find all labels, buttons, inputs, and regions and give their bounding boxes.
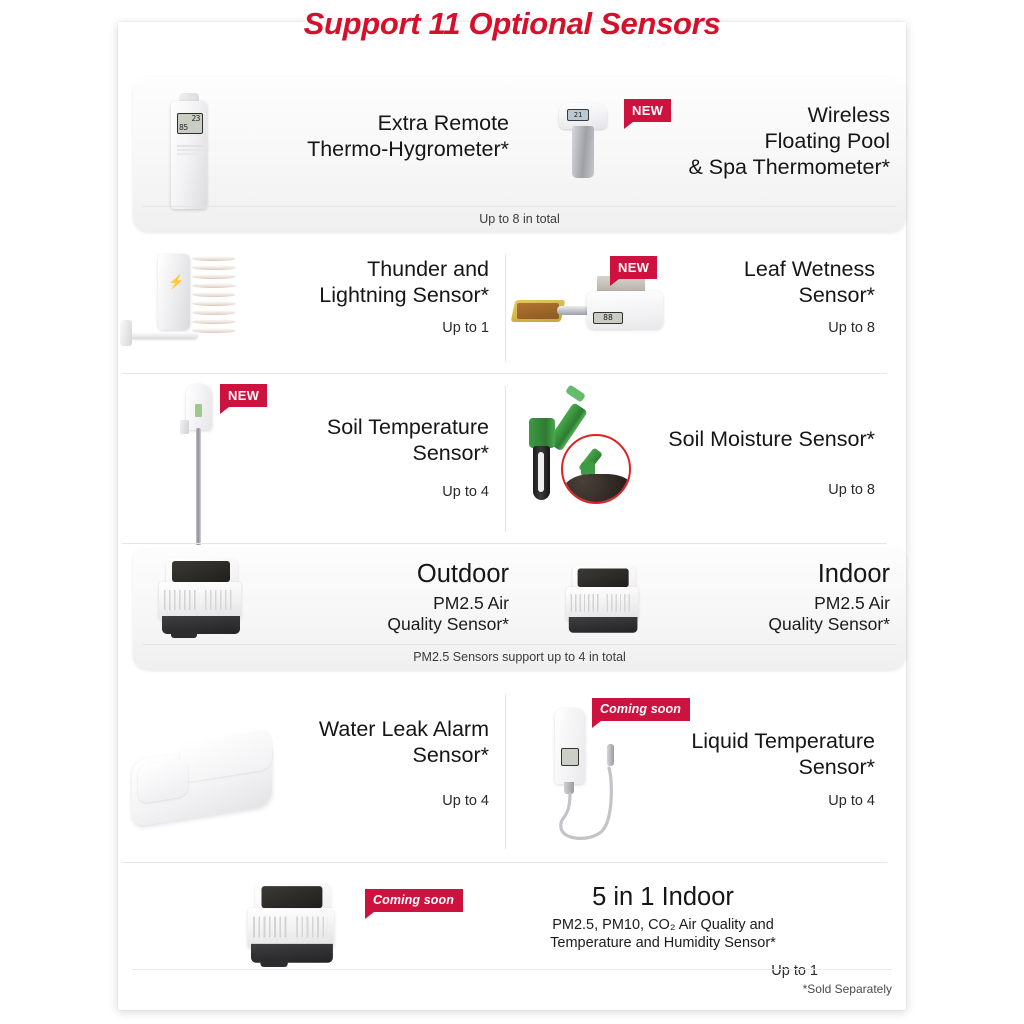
item-soil-moisture-sensor[interactable]: Soil Moisture Sensor* Up to 8 xyxy=(505,374,891,544)
footer-divider xyxy=(132,969,892,970)
item-thunder-and-lightning-sensor[interactable]: ⚡ Thunder and Lightning Sensor* Up to 1 xyxy=(118,242,505,374)
item-headline: 5 in 1 Indoor xyxy=(488,882,838,912)
item-name: Wireless Floating Pool & Spa Thermometer… xyxy=(669,102,890,180)
infographic-page: Support 11 Optional Sensors 23 85 Extra … xyxy=(118,22,906,1010)
new-badge: NEW xyxy=(624,99,671,122)
item-limit: Up to 8 xyxy=(643,482,875,498)
item-name: PM2.5, PM10, CO₂ Air Quality and Tempera… xyxy=(488,916,838,952)
item-water-leak-alarm-sensor[interactable]: Water Leak Alarm Sensor* Up to 4 xyxy=(118,680,505,863)
item-limit: Up to 4 xyxy=(268,793,489,809)
item-name: Liquid Temperature Sensor* xyxy=(623,728,875,780)
item-limit: Up to 4 xyxy=(258,484,489,500)
item-liquid-temperature-sensor[interactable]: Coming soon Liquid Temperature Sensor* U… xyxy=(505,680,891,863)
outdoor-pm25-sensor-icon xyxy=(155,558,249,640)
lcd-leaf-value: 88 xyxy=(593,312,623,324)
leaf-wetness-sensor-icon: 88 xyxy=(513,258,683,358)
item-name: Water Leak Alarm Sensor* xyxy=(268,716,489,768)
five-in-one-sensor-icon xyxy=(244,883,343,969)
thunder-lightning-sensor-icon: ⚡ xyxy=(156,250,286,362)
lcd-pool-value: 21 xyxy=(567,109,589,121)
item-soil-temperature-sensor[interactable]: NEW Soil Temperature Sensor* Up to 4 xyxy=(118,374,505,544)
coming-soon-badge: Coming soon xyxy=(592,698,690,721)
item-name: Extra Remote Thermo-Hygrometer* xyxy=(213,110,509,162)
pool-thermometer-icon: 21 xyxy=(549,97,619,187)
lcd-humidity-value: 85 xyxy=(179,123,188,132)
new-badge: NEW xyxy=(220,384,267,407)
item-limit: Up to 1 xyxy=(268,320,489,336)
item-name: PM2.5 Air Quality Sensor* xyxy=(273,593,509,635)
group-thermo-pool-card: 23 85 Extra Remote Thermo-Hygrometer* 21… xyxy=(133,77,906,232)
item-wireless-floating-pool-spa-thermometer[interactable]: 21 NEW Wireless Floating Pool & Spa Ther… xyxy=(519,77,906,197)
item-indoor-pm25-air-quality-sensor[interactable]: Indoor PM2.5 Air Quality Sensor* xyxy=(519,545,906,640)
thermo-hygrometer-icon: 23 85 xyxy=(165,91,217,216)
item-outdoor-pm25-air-quality-sensor[interactable]: Outdoor PM2.5 Air Quality Sensor* xyxy=(133,545,519,640)
item-limit: Up to 1 xyxy=(488,963,818,979)
item-limit: Up to 8 xyxy=(665,320,875,336)
item-leaf-wetness-sensor[interactable]: 88 NEW Leaf Wetness Sensor* Up to 8 xyxy=(505,242,891,374)
item-limit: Up to 4 xyxy=(623,793,875,809)
item-extra-remote-thermo-hygrometer[interactable]: 23 85 Extra Remote Thermo-Hygrometer* xyxy=(133,77,519,197)
group-pm25-card: Outdoor PM2.5 Air Quality Sensor* Indoor… xyxy=(133,545,906,670)
coming-soon-badge: Coming soon xyxy=(365,889,463,912)
group-footer-note: Up to 8 in total xyxy=(143,206,896,226)
item-name: PM2.5 Air Quality Sensor* xyxy=(669,593,890,635)
sold-separately-footnote: *Sold Separately xyxy=(803,982,892,996)
water-leak-alarm-icon xyxy=(132,732,282,832)
page-title: Support 11 Optional Sensors xyxy=(304,6,721,42)
group-leak-liquid-row: Water Leak Alarm Sensor* Up to 4 Coming … xyxy=(118,680,891,863)
item-name: Thunder and Lightning Sensor* xyxy=(268,256,489,308)
soil-moisture-sensor-icon xyxy=(525,394,645,512)
new-badge: NEW xyxy=(610,256,657,279)
page-title-wrap: Support 11 Optional Sensors xyxy=(0,6,1024,42)
indoor-pm25-sensor-icon xyxy=(563,566,646,638)
item-name: Leaf Wetness Sensor* xyxy=(665,256,875,308)
lcd-temp-value: 23 xyxy=(191,114,200,123)
item-name: Soil Moisture Sensor* xyxy=(643,426,875,452)
group-footer-note: PM2.5 Sensors support up to 4 in total xyxy=(143,644,896,664)
group-soil-row: NEW Soil Temperature Sensor* Up to 4 Soi… xyxy=(118,374,891,544)
item-headline: Indoor xyxy=(669,559,890,589)
group-thunder-leaf-row: ⚡ Thunder and Lightning Sensor* Up to 1 xyxy=(118,242,891,374)
item-headline: Outdoor xyxy=(273,559,509,589)
soil-detail-inset xyxy=(561,434,631,504)
item-name: Soil Temperature Sensor* xyxy=(258,414,489,466)
